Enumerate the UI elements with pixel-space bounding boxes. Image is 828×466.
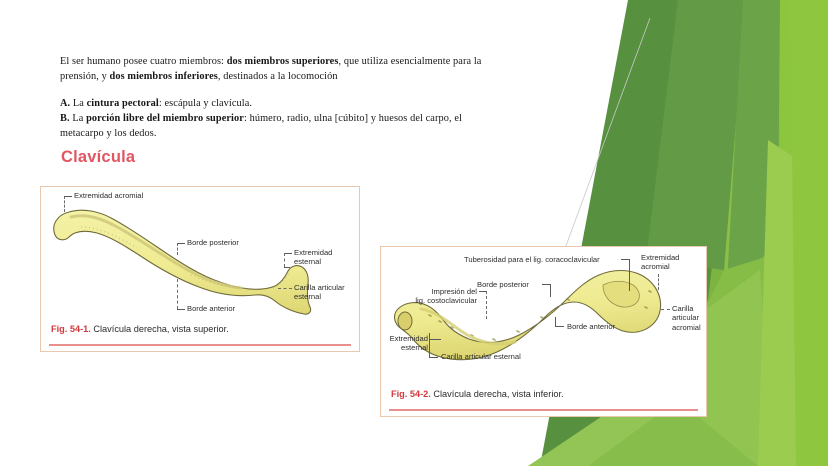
leader-borde-anterior-v [177,279,178,309]
list-item-b-bold: porción libre del miembro superior [86,113,244,124]
figure-54-2-label-borde-posterior: Borde posterior [477,280,529,289]
leader-borde-posterior-v [177,243,178,255]
figure-54-2-caption-number: Fig. 54-2. [391,389,431,399]
figure-54-1-caption: Fig. 54-1. Clavícula derecha, vista supe… [51,324,229,334]
facet-shape-light-3 [758,140,828,466]
intro-paragraph: El ser humano posee cuatro miembros: dos… [60,54,490,84]
figure-54-2-label-extremidad-acromial: Extremidad acromial [641,253,679,272]
list-paragraph: A. La cintura pectoral: escápula y claví… [60,96,490,141]
list-item-b-marker: B. [60,113,70,124]
figure-54-2-label-tuberosidad: Tuberosidad para el lig. coracoclavicula… [464,255,600,264]
figure-54-1-caption-number: Fig. 54-1. [51,324,91,334]
leader-impresion-v [486,291,487,319]
facet-shape-dark-2 [646,0,746,270]
figure-54-2-caption-rule [389,409,698,411]
leader-extremidad-esternal-h2 [284,267,290,268]
leader-borde-posterior-2-v [550,284,551,297]
figure-54-1-caption-rule [49,344,351,346]
facet-shape-light-1 [728,0,828,466]
intro-bold-2: dos miembros inferiores [110,71,218,82]
figure-54-2-label-borde-anterior: Borde anterior [567,322,615,331]
leader-extremidad-acromial-v [64,196,65,212]
clavicle-superior-shape [54,210,311,314]
figure-54-1-caption-text: Clavícula derecha, vista superior. [91,324,229,334]
list-item-a-seg-1: La [70,98,86,109]
intro-seg-1: El ser humano posee cuatro miembros: [60,56,227,67]
intro-bold-1: dos miembros superiores [227,56,339,67]
leader-borde-anterior-h [177,309,185,310]
section-heading-clavicula: Clavícula [61,148,135,167]
figure-54-2-label-impresion-costoclavicular: Impresión del lig. costoclavicular [392,287,477,306]
facet-shape-dark-3 [726,0,780,300]
list-item-a-marker: A. [60,98,70,109]
figure-54-2-label-carilla-articular-acromial: Carilla articular acromial [672,304,701,332]
leader-carilla-acromial-h [661,309,670,310]
figure-54-2: Tuberosidad para el lig. coracoclavicula… [380,246,707,417]
leader-borde-anterior-2-h [555,326,564,327]
leader-extremidad-acromial-2-v [658,274,659,290]
leader-extremidad-acromial-h [64,196,72,197]
figure-54-1-inner: Extremidad acromial Borde posterior Bord… [41,187,359,351]
leader-borde-posterior-h [177,243,185,244]
facet-shape-mid-2 [718,0,790,466]
leader-extremidad-esternal-v [284,253,285,267]
figure-54-2-inner: Tuberosidad para el lig. coracoclavicula… [381,247,706,416]
figure-54-1-label-extremidad-acromial: Extremidad acromial [74,191,143,200]
figure-54-2-label-carilla-articular-esternal: Carilla articular esternal [441,352,521,361]
leader-carilla-esternal-2-h [429,357,438,358]
facet-shape-light-2 [743,0,828,466]
figure-54-1-label-extremidad-esternal: Extremidad esternal [294,248,332,267]
figure-54-2-caption-text: Clavícula derecha, vista inferior. [431,389,564,399]
list-item-b: B. La porción libre del miembro superior… [60,111,490,141]
list-item-b-seg-1: La [70,113,86,124]
list-item-a: A. La cintura pectoral: escápula y claví… [60,96,490,111]
leader-borde-anterior-2-v [555,317,556,327]
leader-carilla-articular-esternal-h [278,288,292,289]
list-item-a-bold: cintura pectoral [87,98,159,109]
figure-54-1-label-borde-anterior: Borde anterior [187,304,235,313]
intro-seg-3: , destinados a la locomoción [218,71,338,82]
figure-54-2-label-extremidad-esternal: Extremidad esternal [381,334,428,353]
slide-canvas: El ser humano posee cuatro miembros: dos… [0,0,828,466]
leader-extremidad-esternal-2-h [429,339,441,340]
leader-extremidad-esternal-h [284,253,292,254]
leader-tuberosidad-v [629,259,630,291]
carilla-articular-esternal-mark [398,312,412,330]
leader-carilla-esternal-2-v [429,333,430,358]
facet-shape-light-4 [790,0,828,466]
figure-54-2-caption: Fig. 54-2. Clavícula derecha, vista infe… [391,389,564,399]
figure-54-1-label-borde-posterior: Borde posterior [187,238,239,247]
figure-54-1-label-carilla-articular-esternal: Carilla articular esternal [294,283,345,302]
list-item-a-seg-2: : escápula y clavícula. [159,98,252,109]
figure-54-1: Extremidad acromial Borde posterior Bord… [40,186,360,352]
